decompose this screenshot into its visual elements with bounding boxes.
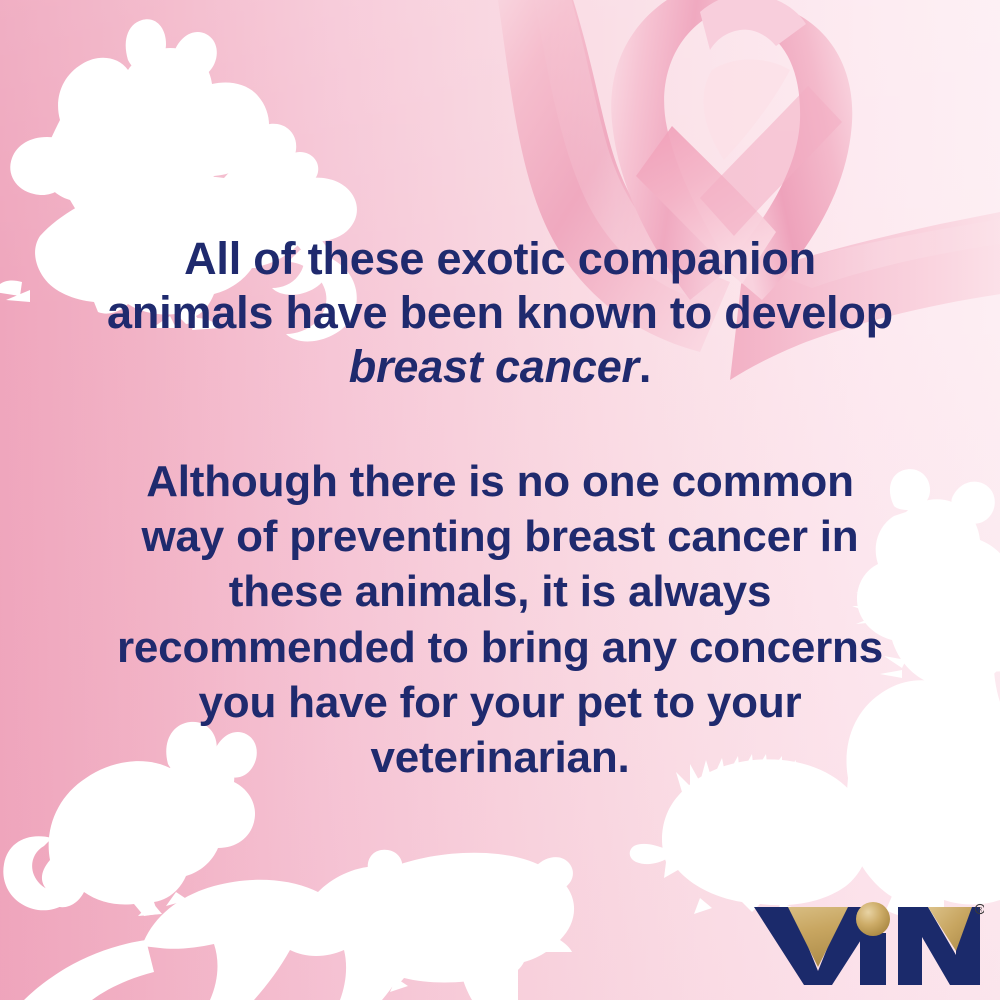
svg-text:R: R	[978, 908, 983, 914]
paragraph-two-line-2: way of preventing breast cancer in	[142, 512, 859, 561]
vin-logo[interactable]: R	[752, 893, 984, 985]
paragraph-two-line-3: these animals, it is always	[229, 567, 771, 616]
breast-cancer-emphasis: breast cancer	[349, 341, 639, 392]
paragraph-two-line-6: veterinarian.	[370, 733, 629, 782]
chinchilla-top-left-silhouette	[10, 19, 269, 210]
logo-gold-dot	[856, 902, 890, 936]
ferret-bottom-left-silhouette	[24, 850, 518, 1000]
logo-letter-n	[898, 907, 980, 985]
paragraph-two-line-4: recommended to bring any concerns	[117, 623, 883, 672]
paragraph-one: All of these exotic companion animals ha…	[78, 232, 922, 394]
message-copy: All of these exotic companion animals ha…	[78, 232, 922, 785]
paragraph-two: Although there is no one common way of p…	[78, 454, 922, 785]
poster-canvas: All of these exotic companion animals ha…	[0, 0, 1000, 1000]
paragraph-one-period: .	[639, 341, 651, 392]
logo-letter-i	[856, 902, 890, 985]
guinea-pig-bottom-silhouette	[352, 853, 574, 994]
paragraph-one-line-1: All of these exotic companion	[184, 233, 816, 284]
paragraph-one-line-2: animals have been known to develop	[107, 287, 893, 338]
paragraph-two-line-1: Although there is no one common	[146, 457, 854, 506]
paragraph-two-line-5: you have for your pet to your	[199, 678, 802, 727]
